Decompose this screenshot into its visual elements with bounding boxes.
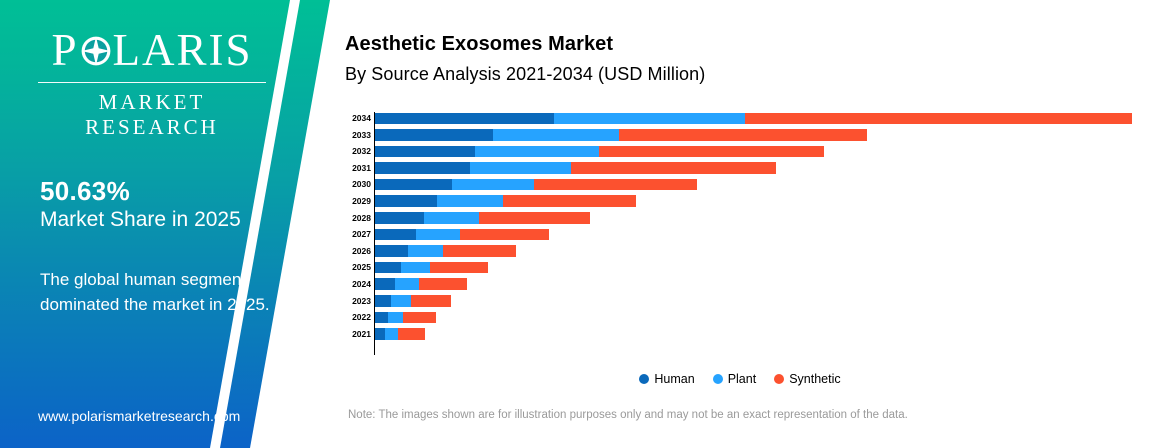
bar-segment-synthetic (619, 129, 867, 141)
chart-title: Aesthetic Exosomes Market (345, 33, 613, 56)
bar-segment-human (375, 212, 424, 224)
legend-item-plant[interactable]: Plant (713, 372, 757, 386)
chart-row: 2031 (340, 160, 1140, 177)
bar-segment-synthetic (479, 212, 590, 224)
stacked-bar (375, 162, 776, 174)
chart-subtitle: By Source Analysis 2021-2034 (USD Millio… (345, 64, 705, 85)
stacked-bar (375, 129, 867, 141)
stacked-bar (375, 212, 590, 224)
legend-item-synthetic[interactable]: Synthetic (774, 372, 840, 386)
y-axis-tick-label: 2028 (340, 214, 371, 223)
chart-row: 2033 (340, 127, 1140, 144)
chart-row: 2024 (340, 276, 1140, 293)
bar-segment-plant (470, 162, 571, 174)
chart-row: 2034 (340, 110, 1140, 127)
stacked-bar (375, 295, 451, 307)
y-axis-tick-label: 2024 (340, 280, 371, 289)
bar-segment-plant (416, 229, 460, 241)
website-url[interactable]: www.polarismarketresearch.com (38, 408, 240, 424)
bar-segment-synthetic (430, 262, 488, 274)
bar-segment-synthetic (571, 162, 776, 174)
chart-row: 2025 (340, 259, 1140, 276)
bar-segment-plant (388, 312, 403, 324)
bar-segment-synthetic (403, 312, 436, 324)
bar-segment-human (375, 229, 416, 241)
bar-segment-plant (385, 328, 398, 340)
insight-description: The global human segment dominated the m… (40, 268, 270, 317)
y-axis-tick-label: 2031 (340, 164, 371, 173)
bar-segment-plant (391, 295, 411, 307)
chart-row: 2030 (340, 176, 1140, 193)
stacked-bar (375, 312, 436, 324)
bar-segment-human (375, 195, 437, 207)
stacked-bar (375, 278, 467, 290)
chart-row: 2027 (340, 226, 1140, 243)
compass-star-icon (78, 33, 114, 69)
bar-segment-synthetic (411, 295, 451, 307)
logo-wordmark: P LARIS (36, 28, 268, 73)
stacked-bar (375, 146, 824, 158)
chart-row: 2032 (340, 143, 1140, 160)
y-axis-tick-label: 2025 (340, 263, 371, 272)
legend-swatch-icon (639, 374, 649, 384)
bar-segment-human (375, 245, 408, 257)
bar-segment-human (375, 295, 391, 307)
bar-segment-human (375, 146, 475, 158)
bar-segment-human (375, 162, 470, 174)
brand-block: P LARIS MARKET RESEARCH (36, 28, 268, 140)
y-axis-tick-label: 2029 (340, 197, 371, 206)
y-axis-tick-label: 2033 (340, 131, 371, 140)
logo-letter-p: P (51, 28, 78, 73)
chart-note: Note: The images shown are for illustrat… (348, 409, 908, 421)
stacked-bar (375, 179, 697, 191)
bar-segment-plant (424, 212, 479, 224)
logo-letters-laris: LARIS (113, 28, 253, 73)
legend-label: Synthetic (789, 372, 840, 386)
stacked-bar-chart: 2034203320322031203020292028202720262025… (340, 110, 1140, 355)
bar-segment-human (375, 328, 385, 340)
chart-panel: Aesthetic Exosomes Market By Source Anal… (340, 0, 1159, 448)
legend-item-human[interactable]: Human (639, 372, 694, 386)
stat-label: Market Share in 2025 (40, 208, 241, 232)
stacked-bar (375, 113, 1132, 125)
chart-row: 2021 (340, 326, 1140, 343)
bar-segment-plant (401, 262, 430, 274)
chart-row: 2023 (340, 293, 1140, 310)
bar-segment-synthetic (460, 229, 549, 241)
bar-segment-synthetic (599, 146, 824, 158)
logo-divider (38, 82, 266, 83)
stacked-bar (375, 328, 425, 340)
bar-segment-synthetic (534, 179, 697, 191)
y-axis-tick-label: 2034 (340, 114, 371, 123)
y-axis-tick-label: 2026 (340, 247, 371, 256)
legend-label: Human (654, 372, 694, 386)
y-axis-tick-label: 2032 (340, 147, 371, 156)
bar-segment-human (375, 262, 401, 274)
bar-segment-human (375, 278, 395, 290)
y-axis-tick-label: 2027 (340, 230, 371, 239)
y-axis-tick-label: 2023 (340, 297, 371, 306)
legend-swatch-icon (774, 374, 784, 384)
chart-row: 2029 (340, 193, 1140, 210)
bar-segment-human (375, 129, 493, 141)
bar-segment-human (375, 179, 452, 191)
bar-segment-plant (408, 245, 443, 257)
bar-segment-synthetic (419, 278, 467, 290)
bar-segment-human (375, 312, 388, 324)
y-axis-tick-label: 2021 (340, 330, 371, 339)
bar-segment-synthetic (443, 245, 516, 257)
bar-segment-synthetic (745, 113, 1132, 125)
chart-row: 2028 (340, 210, 1140, 227)
stacked-bar (375, 229, 549, 241)
bar-segment-human (375, 113, 554, 125)
y-axis-tick-label: 2022 (340, 313, 371, 322)
legend-swatch-icon (713, 374, 723, 384)
chart-row: 2022 (340, 309, 1140, 326)
infographic-page: P LARIS MARKET RESEARCH 50.63% Market Sh… (0, 0, 1159, 448)
bar-segment-plant (475, 146, 599, 158)
bar-segment-plant (452, 179, 534, 191)
logo-subtitle: MARKET RESEARCH (36, 90, 268, 140)
chart-legend: HumanPlantSynthetic (340, 372, 1140, 386)
stacked-bar (375, 245, 516, 257)
bar-segment-plant (395, 278, 419, 290)
y-axis-tick-label: 2030 (340, 180, 371, 189)
bar-segment-synthetic (398, 328, 425, 340)
bar-segment-plant (554, 113, 745, 125)
bar-segment-synthetic (503, 195, 636, 207)
chart-row: 2026 (340, 243, 1140, 260)
bar-segment-plant (493, 129, 619, 141)
stacked-bar (375, 195, 636, 207)
stat-value: 50.63% (40, 176, 130, 207)
stacked-bar (375, 262, 488, 274)
chart-rows: 2034203320322031203020292028202720262025… (340, 110, 1140, 342)
bar-segment-plant (437, 195, 503, 207)
legend-label: Plant (728, 372, 757, 386)
